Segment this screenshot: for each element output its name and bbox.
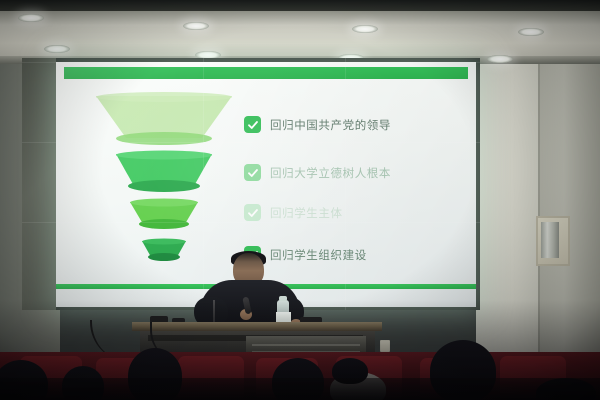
- podium-panel-line: [252, 344, 360, 346]
- video-wall-seam: [345, 58, 346, 310]
- funnel-segment-1: [96, 92, 232, 142]
- ceiling-downlight: [18, 14, 44, 22]
- desk-microphone-stand: [213, 300, 215, 324]
- check-icon: [244, 164, 261, 181]
- funnel-diagram: [94, 92, 234, 267]
- checklist-item-3-label: 回归学生主体: [270, 205, 343, 221]
- check-icon: [244, 204, 261, 221]
- ceiling-dark-strip: [0, 0, 600, 11]
- ceiling-downlight: [487, 55, 513, 63]
- funnel-segment-1-lip: [116, 132, 212, 145]
- funnel-segment-4-lip: [148, 253, 180, 261]
- checklist-item-1: 回归中国共产党的领导: [244, 116, 391, 133]
- video-wall-seam: [22, 222, 480, 223]
- funnel-segment-3-lip: [139, 219, 189, 229]
- checklist-item-1-label: 回归中国共产党的领导: [270, 117, 391, 133]
- checklist-item-2: 回归大学立德树人根本: [244, 164, 391, 181]
- checklist-item-3: 回归学生主体: [244, 204, 343, 221]
- funnel-segment-3: [130, 198, 198, 230]
- ceiling-downlight: [183, 22, 209, 30]
- funnel-segment-2: [116, 150, 212, 192]
- wall-access-panel-inner: [541, 222, 559, 258]
- lecture-hall-photo: 回归中国共产党的领导 回归大学立德树人根本 回归学生主体 回归学生组织建设: [0, 0, 600, 400]
- video-wall-seam: [22, 62, 480, 63]
- check-icon: [244, 116, 261, 133]
- checklist-item-2-label: 回归大学立德树人根本: [270, 165, 391, 181]
- funnel-segment-2-lip: [128, 180, 200, 192]
- ceiling-downlight: [518, 28, 544, 36]
- video-wall-left-bezel: [22, 58, 56, 310]
- ceiling-downlight: [352, 25, 378, 33]
- slide-top-accent-bar: [64, 67, 468, 79]
- ceiling-downlight: [44, 45, 70, 53]
- wall-outlet-mid: [380, 340, 390, 352]
- water-bottle-cap: [279, 296, 287, 301]
- foreground-shadow: [0, 378, 600, 400]
- funnel-segment-4: [142, 238, 186, 262]
- video-wall-seam: [22, 142, 480, 143]
